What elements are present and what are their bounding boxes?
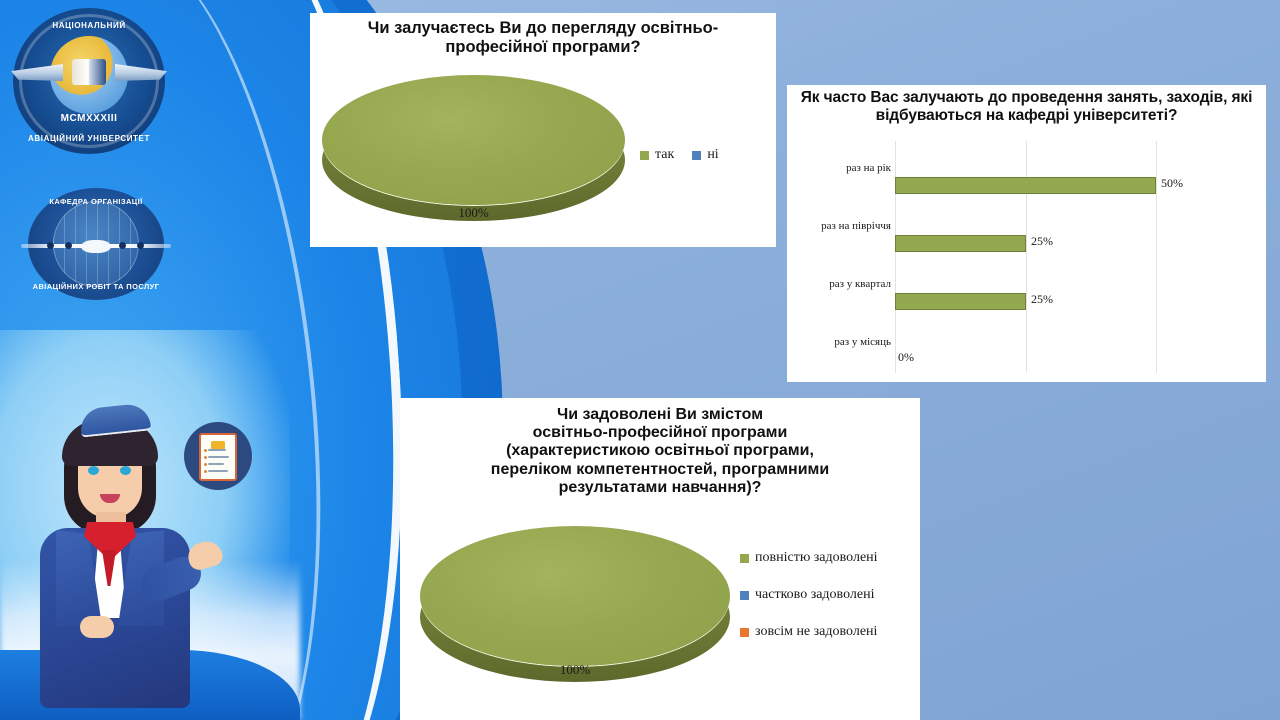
bar-value-0: 50% <box>1161 176 1183 191</box>
eye-right <box>120 466 131 475</box>
legend-swatch-fully-satisfied <box>740 554 749 563</box>
chart-title-line-3: переліком компетентностей, програмними <box>410 461 910 479</box>
book-icon <box>72 59 106 85</box>
bar-category-label-3: раз у місяць <box>834 336 891 348</box>
clipboard-line <box>208 456 229 458</box>
bar-value-1: 25% <box>1031 234 1053 249</box>
chart-panel-bar: Як часто Вас залучають до проведення зан… <box>787 85 1266 382</box>
department-logo-bottom-text: АВІАЦІЙНИХ РОБІТ ТА ПОСЛУГ <box>28 282 164 291</box>
legend-swatch-ni <box>692 151 701 160</box>
clipboard-line <box>208 449 226 451</box>
legend-item-partly-satisfied[interactable]: частково задоволені <box>740 587 878 603</box>
gridline-50 <box>1156 141 1157 373</box>
flight-attendant-illustration <box>22 404 212 704</box>
clipboard-bullet <box>204 456 207 459</box>
bar-category-label-1: раз на півріччя <box>821 220 891 232</box>
engine-3 <box>119 242 126 249</box>
engine-1 <box>47 242 54 249</box>
legend-label-fully-satisfied: повністю задоволені <box>755 550 878 566</box>
legend-item-ni[interactable]: ні <box>692 147 718 163</box>
pie-slice-top-tak <box>322 75 625 205</box>
bar-category-label-2: раз у квартал <box>829 278 891 290</box>
chart-title-pie-top: Чи залучаєтесь Ви до перегляду освітньо-… <box>310 13 776 57</box>
gridline-25 <box>1026 141 1027 373</box>
clipboard-line <box>208 470 228 472</box>
bar-value-2: 25% <box>1031 292 1053 307</box>
clipboard-body <box>199 433 237 481</box>
hand-left <box>80 616 114 638</box>
chart-title-line-2: (характеристикою освітньої програми, <box>410 442 910 460</box>
university-logo-top-text: НАЦІОНАЛЬНИЙ <box>13 21 165 30</box>
clipboard-bullet <box>204 463 207 466</box>
airplane-fuselage <box>81 240 111 253</box>
bar-value-3: 0% <box>898 350 914 365</box>
legend-swatch-partly-satisfied <box>740 591 749 600</box>
pie-data-label-fully-satisfied: 100% <box>420 662 730 678</box>
bar-1[interactable] <box>895 235 1026 252</box>
clipboard-bullet <box>204 449 207 452</box>
chart-title-line-0: Чи задоволені Ви змістом <box>410 406 910 424</box>
university-logo-year: MCMXXXIII <box>13 113 165 124</box>
legend-item-not-satisfied[interactable]: зовсім не задоволені <box>740 624 878 640</box>
legend-label-partly-satisfied: частково задоволені <box>755 587 874 603</box>
clipboard-bullet <box>204 470 207 473</box>
pie-slice-top-fully-satisfied <box>420 526 730 666</box>
pie-data-label-tak: 100% <box>322 205 625 221</box>
eye-left <box>88 466 99 475</box>
chart-title-line-4: результатами навчання)? <box>410 479 910 497</box>
chart-title-line-1: освітньо-професійної програми <box>410 424 910 442</box>
engine-4 <box>137 242 144 249</box>
presentation-slide: НАЦІОНАЛЬНИЙ MCMXXXIII АВІАЦІЙНИЙ УНІВЕР… <box>0 0 1280 720</box>
chart-panel-pie-bottom: Чи задоволені Ви змістом освітньо-профес… <box>400 398 920 720</box>
engine-2 <box>65 242 72 249</box>
pie-chart-bottom: 100% <box>420 526 730 666</box>
bar-category-label-0: раз на рік <box>846 162 891 174</box>
legend-swatch-not-satisfied <box>740 628 749 637</box>
bar-chart-plot-area: раз на рік 50% раз на півріччя 25% раз у… <box>895 141 1157 373</box>
pie-chart-top: 100% <box>322 75 625 205</box>
legend-pie-bottom: повністю задоволені частково задоволені … <box>740 550 878 640</box>
legend-item-fully-satisfied[interactable]: повністю задоволені <box>740 550 878 566</box>
eyebrow-left <box>87 458 100 461</box>
legend-label-tak: так <box>655 147 674 163</box>
bar-0[interactable] <box>895 177 1156 194</box>
clipboard-line <box>208 463 224 465</box>
chart-title-pie-bottom: Чи задоволені Ви змістом освітньо-профес… <box>400 398 920 497</box>
legend-pie-top: так ні <box>640 147 719 163</box>
chart-panel-pie-top: Чи залучаєтесь Ви до перегляду освітньо-… <box>310 13 776 247</box>
legend-label-ni: ні <box>707 147 718 163</box>
legend-item-tak[interactable]: так <box>640 147 674 163</box>
legend-swatch-tak <box>640 151 649 160</box>
clipboard-icon <box>184 422 252 490</box>
chart-title-bar: Як часто Вас залучають до проведення зан… <box>787 85 1266 124</box>
university-logo: НАЦІОНАЛЬНИЙ MCMXXXIII АВІАЦІЙНИЙ УНІВЕР… <box>13 8 165 154</box>
gridline-0 <box>895 141 896 373</box>
bar-2[interactable] <box>895 293 1026 310</box>
airplane-icon <box>21 239 171 253</box>
legend-label-not-satisfied: зовсім не задоволені <box>755 624 877 640</box>
department-logo: КАФЕДРА ОРГАНІЗАЦІЇ АВІАЦІЙНИХ РОБІТ ТА … <box>28 188 164 300</box>
university-logo-bottom-text: АВІАЦІЙНИЙ УНІВЕРСИТЕТ <box>13 134 165 143</box>
department-logo-top-text: КАФЕДРА ОРГАНІЗАЦІЇ <box>28 197 164 206</box>
eyebrow-right <box>119 458 132 461</box>
